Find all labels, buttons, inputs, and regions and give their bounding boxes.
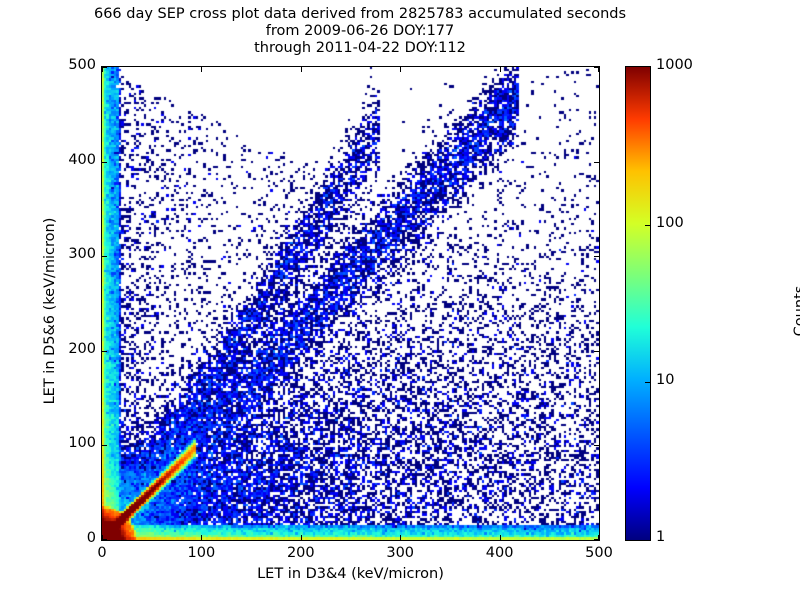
x-tick-label-0: 0: [97, 545, 106, 561]
plot-area: [101, 66, 600, 541]
y-tick-right-200: [594, 351, 599, 352]
x-tick-label-400: 400: [486, 545, 514, 561]
chart-title: 666 day SEP cross plot data derived from…: [0, 6, 720, 57]
x-tick-label-500: 500: [585, 545, 613, 561]
x-tick-400: [500, 535, 501, 540]
y-tick-right-300: [594, 256, 599, 257]
chart-title-line-2: from 2009-06-26 DOY:177: [0, 23, 720, 40]
y-tick-right-100: [594, 445, 599, 446]
x-tick-top-100: [201, 67, 202, 72]
x-tick-label-100: 100: [188, 545, 216, 561]
x-tick-200: [301, 535, 302, 540]
x-tick-top-400: [500, 67, 501, 72]
x-tick-100: [201, 535, 202, 540]
colorbar-tick-10: [645, 382, 650, 383]
x-tick-top-300: [400, 67, 401, 72]
y-tick-right-0: [594, 539, 599, 540]
colorbar-title: Counts: [792, 111, 800, 511]
y-tick-400: [102, 162, 107, 163]
y-tick-right-500: [594, 67, 599, 68]
x-tick-label-300: 300: [386, 545, 414, 561]
plot-page: 666 day SEP cross plot data derived from…: [0, 0, 800, 600]
x-tick-label-200: 200: [287, 545, 315, 561]
colorbar: [625, 66, 651, 541]
y-tick-500: [102, 67, 107, 68]
y-tick-0: [102, 539, 107, 540]
y-tick-right-400: [594, 162, 599, 163]
y-axis-title: LET in D5&6 (keV/micron): [42, 111, 58, 511]
y-tick-100: [102, 445, 107, 446]
x-tick-300: [400, 535, 401, 540]
colorbar-tick-100: [645, 225, 650, 226]
chart-title-line-3: through 2011-04-22 DOY:112: [0, 40, 720, 57]
x-axis-title: LET in D3&4 (keV/micron): [101, 566, 600, 582]
y-tick-300: [102, 256, 107, 257]
scatter-density-canvas: [102, 67, 599, 540]
x-tick-top-200: [301, 67, 302, 72]
colorbar-gradient: [626, 67, 650, 540]
chart-title-line-1: 666 day SEP cross plot data derived from…: [0, 6, 720, 23]
y-tick-200: [102, 351, 107, 352]
